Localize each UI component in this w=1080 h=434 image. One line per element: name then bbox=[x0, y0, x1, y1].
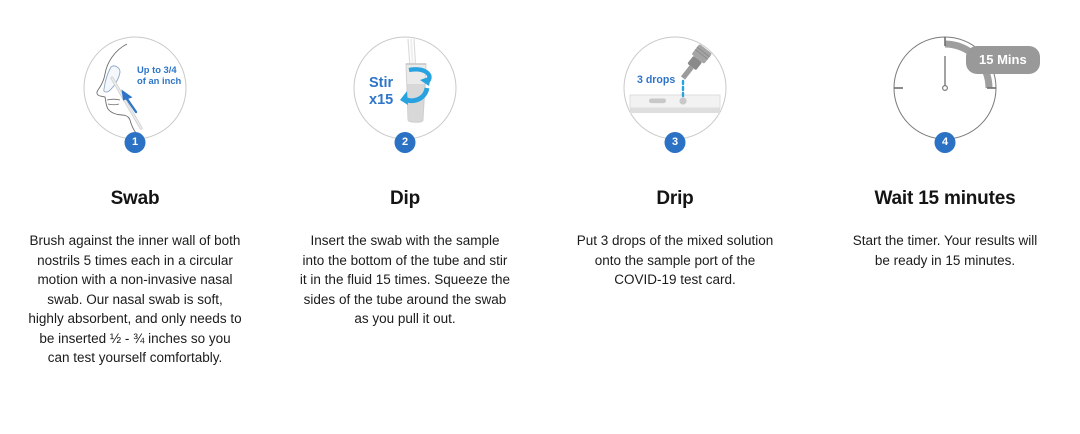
step-3-number-badge: 3 bbox=[665, 132, 686, 153]
step-2-label-line1: Stir bbox=[369, 75, 394, 91]
step-3-body: Put 3 drops of the mixed solution onto t… bbox=[572, 231, 778, 290]
step-4-body: Start the timer. Your results will be re… bbox=[847, 231, 1043, 270]
step-2-body: Insert the swab with the sample into the… bbox=[298, 231, 512, 329]
step-2-label-line2: x15 bbox=[369, 92, 393, 108]
step-card-dip: Stir x15 2 Dip Insert the swab with the … bbox=[270, 34, 540, 434]
step-1-body: Brush against the inner wall of both nos… bbox=[28, 231, 242, 368]
instruction-steps-row: Up to 3/4 of an inch 1 Swab Brush agains… bbox=[0, 0, 1080, 434]
step-2-illustration-wrap: Stir x15 2 bbox=[280, 34, 530, 164]
step-card-swab: Up to 3/4 of an inch 1 Swab Brush agains… bbox=[0, 34, 270, 434]
step-1-illustration-wrap: Up to 3/4 of an inch 1 bbox=[10, 34, 260, 164]
step-2-title: Dip bbox=[390, 188, 420, 210]
step-4-number-badge: 4 bbox=[935, 132, 956, 153]
step-card-drip: 3 drops 3 Drip Put 3 drops of the mixed … bbox=[540, 34, 810, 434]
test-card-drip-illustration: 3 drops bbox=[621, 34, 729, 142]
step-2-number-badge: 2 bbox=[395, 132, 416, 153]
step-3-illustration-wrap: 3 drops 3 bbox=[550, 34, 800, 164]
step-3-label-line1: 3 drops bbox=[637, 74, 675, 86]
step-1-title: Swab bbox=[111, 188, 160, 210]
step-4-illustration-wrap: 15 Mins 4 bbox=[820, 34, 1070, 164]
tube-stir-illustration: Stir x15 bbox=[351, 34, 459, 142]
step-1-label-line2: of an inch bbox=[137, 75, 182, 86]
step-1-number-badge: 1 bbox=[125, 132, 146, 153]
step-1-label-line1: Up to 3/4 bbox=[137, 64, 177, 75]
step-4-title: Wait 15 minutes bbox=[875, 188, 1016, 210]
step-3-title: Drip bbox=[656, 188, 693, 210]
nose-swab-illustration: Up to 3/4 of an inch bbox=[81, 34, 189, 142]
step-card-wait: 15 Mins 4 Wait 15 minutes Start the time… bbox=[810, 34, 1080, 434]
timer-duration-pill: 15 Mins bbox=[966, 46, 1040, 74]
